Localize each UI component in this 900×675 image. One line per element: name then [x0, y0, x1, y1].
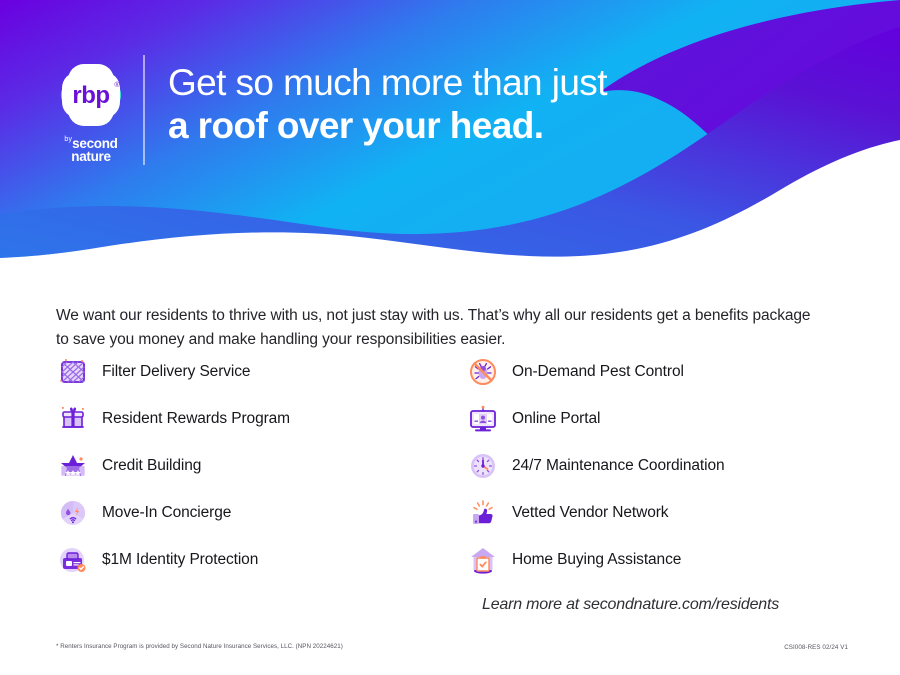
headline-line-2: a roof over your head. [168, 105, 868, 146]
benefit-item-resident-rewards: Resident Rewards Program [56, 395, 466, 442]
gift-box-icon [56, 402, 90, 436]
intro-paragraph: We want our residents to thrive with us,… [56, 304, 816, 352]
footer-disclaimer: * Renters Insurance Program is provided … [56, 643, 343, 650]
svg-text:®: ® [114, 81, 120, 89]
benefit-item-pest-control: On-Demand Pest Control [466, 348, 856, 395]
benefit-label: On-Demand Pest Control [512, 363, 684, 381]
benefit-label: Move-In Concierge [102, 504, 231, 522]
thumbs-up-icon [466, 496, 500, 530]
clock-icon [466, 449, 500, 483]
benefit-label: $1M Identity Protection [102, 551, 258, 569]
hero-banner: rbp ® bysecond nature Get so much more t… [0, 0, 900, 258]
benefit-label: Home Buying Assistance [512, 551, 681, 569]
id-wallet-shield-icon [56, 543, 90, 577]
rbp-logo-subtext: bysecond nature [52, 136, 130, 164]
benefit-label: Online Portal [512, 410, 600, 428]
benefit-label: Resident Rewards Program [102, 410, 290, 428]
no-pest-icon [466, 355, 500, 389]
headline-line-1: Get so much more than just [168, 62, 868, 103]
hero-headline: Get so much more than just a roof over y… [168, 62, 868, 147]
benefits-column-right: On-Demand Pest Control [466, 348, 856, 583]
house-checklist-icon [466, 543, 500, 577]
air-filter-icon [56, 355, 90, 389]
benefit-item-maintenance: 24/7 Maintenance Coordination [466, 442, 856, 489]
logo-by-text: by [64, 136, 72, 143]
benefit-item-identity-protection: $1M Identity Protection [56, 536, 466, 583]
benefit-item-credit-building: Credit Building [56, 442, 466, 489]
benefit-label: Credit Building [102, 457, 201, 475]
benefit-label: 24/7 Maintenance Coordination [512, 457, 725, 475]
benefit-item-vetted-vendors: Vetted Vendor Network [466, 489, 856, 536]
benefit-label: Filter Delivery Service [102, 363, 250, 381]
rbp-logo-mark: rbp ® [54, 58, 128, 132]
monitor-portal-icon [466, 402, 500, 436]
benefit-item-move-in-concierge: Move-In Concierge [56, 489, 466, 536]
benefits-column-left: Filter Delivery Service Resident Rewards… [56, 348, 466, 583]
footer-doc-code: CSI008-RES 02/24 V1 [784, 644, 848, 651]
benefit-item-home-buying: Home Buying Assistance [466, 536, 856, 583]
svg-text:rbp: rbp [72, 82, 109, 109]
rbp-rosette-icon: rbp ® [54, 58, 128, 132]
credit-badge-icon [56, 449, 90, 483]
hero-divider [143, 55, 145, 165]
rbp-logo: rbp ® bysecond nature [52, 58, 130, 166]
logo-brand-line2: nature [52, 150, 130, 164]
marketing-flyer: rbp ® bysecond nature Get so much more t… [0, 0, 900, 675]
benefit-item-online-portal: Online Portal [466, 395, 856, 442]
benefit-label: Vetted Vendor Network [512, 504, 668, 522]
learn-more-text[interactable]: Learn more at secondnature.com/residents [482, 596, 779, 614]
utilities-wifi-icon [56, 496, 90, 530]
benefit-item-filter-delivery: Filter Delivery Service [56, 348, 466, 395]
benefits-grid: Filter Delivery Service Resident Rewards… [56, 348, 856, 583]
